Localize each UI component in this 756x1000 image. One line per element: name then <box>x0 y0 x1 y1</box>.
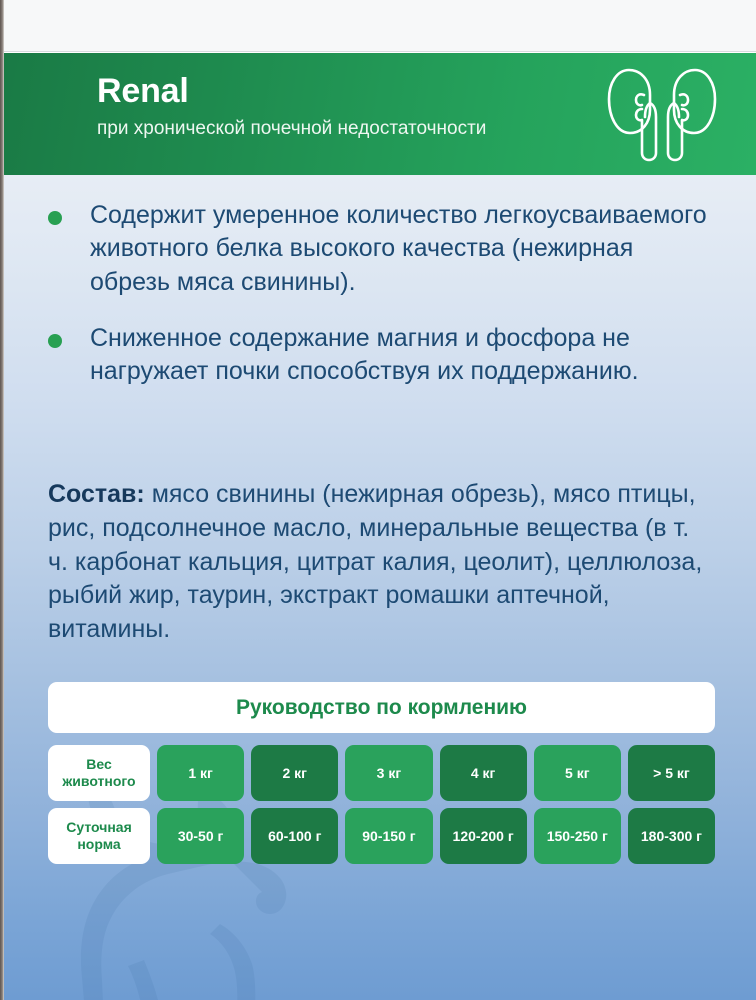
table-cell: 90-150 г <box>345 808 432 864</box>
product-info-card: Renal при хронической почечной недостато… <box>0 0 756 1000</box>
header-subtitle: при хронической почечной недостаточности <box>97 117 486 140</box>
table-cell: 150-250 г <box>534 808 621 864</box>
composition-text: мясо свинины (нежирная обрезь), мясо пти… <box>48 480 702 643</box>
feeding-guide: Руководство по кормлению Вес животного 1… <box>48 682 715 871</box>
table-cell: 120-200 г <box>440 808 527 864</box>
row-header-daily-norm: Суточная норма <box>48 808 150 864</box>
header-text-block: Renal при хронической почечной недостато… <box>97 74 486 140</box>
table-cell: 180-300 г <box>628 808 715 864</box>
bullet-dot-icon <box>48 211 62 225</box>
table-cell: 30-50 г <box>157 808 244 864</box>
row-header-weight: Вес животного <box>48 745 150 801</box>
content-area: Содержит умеренное количество легкоусваи… <box>0 175 756 1000</box>
table-cell: 60-100 г <box>251 808 338 864</box>
list-item: Содержит умеренное количество легкоусваи… <box>0 199 756 299</box>
kidneys-icon <box>606 65 718 165</box>
table-cell: 1 кг <box>157 745 244 801</box>
list-item: Сниженное содержание магния и фосфора не… <box>0 322 756 389</box>
benefit-text: Сниженное содержание магния и фосфора не… <box>90 322 720 389</box>
table-row: Вес животного 1 кг 2 кг 3 кг 4 кг 5 кг >… <box>48 745 715 801</box>
benefits-list: Содержит умеренное количество легкоусваи… <box>0 199 756 411</box>
page-title: Renal <box>97 74 486 108</box>
table-cell: 5 кг <box>534 745 621 801</box>
bullet-dot-icon <box>48 334 62 348</box>
table-cell: 2 кг <box>251 745 338 801</box>
benefit-text: Содержит умеренное количество легкоусваи… <box>90 199 720 299</box>
composition-label: Состав: <box>48 480 145 508</box>
product-header: Renal при хронической почечной недостато… <box>0 53 756 175</box>
table-row: Суточная норма 30-50 г 60-100 г 90-150 г… <box>48 808 715 864</box>
left-edge-strip <box>0 0 4 1000</box>
table-cell: 3 кг <box>345 745 432 801</box>
top-white-strip <box>0 0 756 52</box>
feeding-guide-title: Руководство по кормлению <box>48 682 715 733</box>
table-cell: 4 кг <box>440 745 527 801</box>
composition-paragraph: Состав: мясо свинины (нежирная обрезь), … <box>0 478 756 647</box>
table-cell: > 5 кг <box>628 745 715 801</box>
